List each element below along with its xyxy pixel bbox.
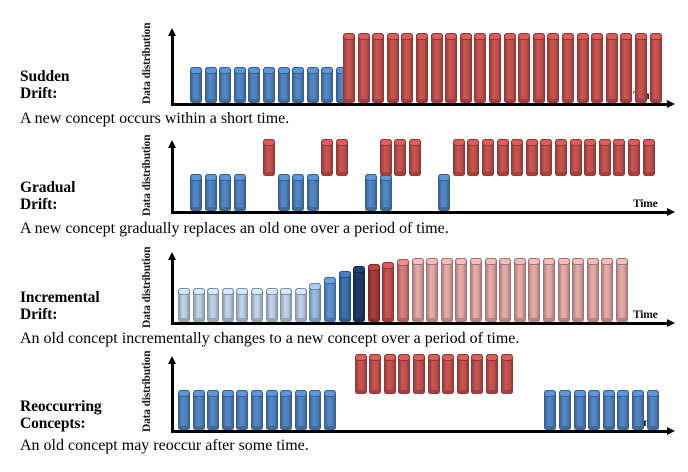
- chart-incremental-drift: Data distribution Time: [0, 242, 688, 354]
- bar-top-ellipse: [599, 139, 611, 146]
- bar-bottom-ellipse: [343, 99, 355, 103]
- bar-top-ellipse: [617, 390, 629, 397]
- y-axis: [171, 146, 174, 213]
- bar: [219, 174, 231, 211]
- bar-top-ellipse: [263, 139, 275, 146]
- bar-top-ellipse: [613, 139, 625, 146]
- bar: [528, 258, 540, 322]
- bar: [266, 288, 278, 322]
- bar-top-ellipse: [438, 174, 450, 181]
- bar-bottom-ellipse: [606, 99, 618, 103]
- bar-bottom-ellipse: [467, 172, 479, 176]
- bar-bottom-ellipse: [266, 426, 278, 430]
- bar-top-ellipse: [236, 390, 248, 397]
- bar: [514, 258, 526, 322]
- bar-bottom-ellipse: [559, 426, 571, 430]
- bar-top-ellipse: [219, 67, 231, 74]
- bar-top-ellipse: [588, 390, 600, 397]
- bar: [486, 354, 498, 394]
- bar-top-ellipse: [470, 258, 482, 265]
- bar: [384, 354, 396, 394]
- bar-top-ellipse: [606, 33, 618, 40]
- bar-top-ellipse: [413, 354, 425, 361]
- bar-body: [401, 33, 413, 103]
- bar-top-ellipse: [178, 390, 190, 397]
- bar-top-ellipse: [321, 67, 333, 74]
- bar-top-ellipse: [543, 258, 555, 265]
- x-axis: [171, 322, 668, 325]
- bar-bottom-ellipse: [205, 207, 217, 211]
- bar: [562, 33, 574, 103]
- bar: [574, 390, 586, 430]
- bar: [413, 354, 425, 394]
- bar: [482, 139, 494, 176]
- bar-bottom-ellipse: [295, 318, 307, 322]
- bar: [307, 174, 319, 211]
- bar-bottom-ellipse: [387, 99, 399, 103]
- x-axis: [171, 430, 668, 433]
- bar-top-ellipse: [591, 33, 603, 40]
- bar: [248, 67, 260, 103]
- bar-body: [650, 33, 662, 103]
- bar: [222, 288, 234, 322]
- bar-body: [620, 33, 632, 103]
- bar: [428, 354, 440, 394]
- bar-body: [382, 262, 394, 322]
- bar-top-ellipse: [528, 258, 540, 265]
- bar-body: [368, 264, 380, 322]
- bar-top-ellipse: [499, 258, 511, 265]
- bar-bottom-ellipse: [321, 172, 333, 176]
- bar-bottom-ellipse: [555, 172, 567, 176]
- bar: [504, 33, 516, 103]
- bar-top-ellipse: [441, 258, 453, 265]
- bar-top-ellipse: [577, 33, 589, 40]
- x-axis-label: Time: [633, 198, 658, 210]
- bar-top-ellipse: [280, 288, 292, 295]
- bar: [263, 67, 275, 103]
- bar: [455, 258, 467, 322]
- bar: [467, 139, 479, 176]
- bar-body: [504, 33, 516, 103]
- bar-bottom-ellipse: [518, 99, 530, 103]
- bar-top-ellipse: [336, 139, 348, 146]
- bar-top-ellipse: [295, 288, 307, 295]
- bar-body: [412, 258, 424, 322]
- bar-body: [591, 33, 603, 103]
- bar-top-ellipse: [207, 288, 219, 295]
- bar: [501, 354, 513, 394]
- bar-top-ellipse: [572, 258, 584, 265]
- bar-bottom-ellipse: [617, 426, 629, 430]
- bar-body: [514, 258, 526, 322]
- bar-top-ellipse: [251, 288, 263, 295]
- bar: [643, 139, 655, 176]
- bar-bottom-ellipse: [438, 207, 450, 211]
- bar-top-ellipse: [620, 33, 632, 40]
- bar-top-ellipse: [372, 33, 384, 40]
- bar-top-ellipse: [234, 174, 246, 181]
- bar: [266, 390, 278, 430]
- bar: [489, 33, 501, 103]
- bar-body: [474, 33, 486, 103]
- bar-top-ellipse: [190, 174, 202, 181]
- bar-top-ellipse: [471, 354, 483, 361]
- bar-top-ellipse: [497, 139, 509, 146]
- bar: [207, 390, 219, 430]
- bar-top-ellipse: [205, 67, 217, 74]
- bar: [628, 139, 640, 176]
- bar-top-ellipse: [193, 390, 205, 397]
- bar: [591, 33, 603, 103]
- bar: [369, 354, 381, 394]
- bar-top-ellipse: [453, 139, 465, 146]
- bar-top-ellipse: [309, 390, 321, 397]
- bar-bottom-ellipse: [577, 99, 589, 103]
- bar-body: [635, 33, 647, 103]
- bar: [295, 390, 307, 430]
- bar: [540, 139, 552, 176]
- bar-top-ellipse: [409, 139, 421, 146]
- bar: [278, 174, 290, 211]
- bar-top-ellipse: [643, 139, 655, 146]
- y-axis-label: Data distribution: [141, 256, 153, 328]
- bar-top-ellipse: [355, 354, 367, 361]
- bar-top-ellipse: [353, 266, 365, 273]
- bar-top-ellipse: [489, 33, 501, 40]
- bar: [603, 390, 615, 430]
- bar-top-ellipse: [321, 139, 333, 146]
- bar: [321, 67, 333, 103]
- bar-top-ellipse: [559, 390, 571, 397]
- bar-bottom-ellipse: [193, 426, 205, 430]
- bar-top-ellipse: [292, 174, 304, 181]
- bar-bottom-ellipse: [540, 172, 552, 176]
- bar: [219, 67, 231, 103]
- bar: [412, 258, 424, 322]
- bar: [544, 390, 556, 430]
- bar-bottom-ellipse: [372, 99, 384, 103]
- bar-bottom-ellipse: [489, 99, 501, 103]
- bar: [601, 258, 613, 322]
- bar-bottom-ellipse: [324, 318, 336, 322]
- bar: [441, 258, 453, 322]
- bar-bottom-ellipse: [543, 318, 555, 322]
- bar-top-ellipse: [501, 354, 513, 361]
- bar-top-ellipse: [428, 354, 440, 361]
- bar-body: [445, 33, 457, 103]
- bar-top-ellipse: [540, 139, 552, 146]
- bar-bottom-ellipse: [599, 172, 611, 176]
- bar: [372, 33, 384, 103]
- bar-bottom-ellipse: [251, 318, 263, 322]
- bar-bottom-ellipse: [547, 99, 559, 103]
- bar-bottom-ellipse: [471, 390, 483, 394]
- bar-bottom-ellipse: [278, 207, 290, 211]
- bar-bottom-ellipse: [482, 172, 494, 176]
- bar-top-ellipse: [628, 139, 640, 146]
- bar-top-ellipse: [555, 139, 567, 146]
- bar-top-ellipse: [307, 174, 319, 181]
- bar-bottom-ellipse: [365, 207, 377, 211]
- y-axis: [171, 258, 174, 324]
- bar-bottom-ellipse: [486, 390, 498, 394]
- bar-top-ellipse: [207, 390, 219, 397]
- bar-bottom-ellipse: [336, 172, 348, 176]
- bar-bottom-ellipse: [368, 318, 380, 322]
- bar-body: [339, 271, 351, 322]
- bar: [577, 33, 589, 103]
- bar-bottom-ellipse: [457, 390, 469, 394]
- bar-bottom-ellipse: [178, 318, 190, 322]
- bar-top-ellipse: [558, 258, 570, 265]
- bar: [635, 33, 647, 103]
- bar-body: [577, 33, 589, 103]
- panel-incremental-drift: Incremental Drift: An old concept increm…: [0, 242, 688, 354]
- bar: [401, 33, 413, 103]
- bar-bottom-ellipse: [445, 99, 457, 103]
- bar: [292, 67, 304, 103]
- bar-body: [601, 258, 613, 322]
- bar-top-ellipse: [482, 139, 494, 146]
- bar-top-ellipse: [368, 264, 380, 271]
- bar: [309, 283, 321, 322]
- bar-bottom-ellipse: [650, 99, 662, 103]
- x-axis: [171, 211, 668, 214]
- bar-body: [485, 258, 497, 322]
- panel-sudden-drift: Sudden Drift: A new concept occurs withi…: [0, 0, 688, 132]
- bar-top-ellipse: [455, 258, 467, 265]
- bar: [442, 354, 454, 394]
- bar: [178, 288, 190, 322]
- bar: [339, 271, 351, 322]
- bar-bottom-ellipse: [380, 207, 392, 211]
- bar: [616, 258, 628, 322]
- bar-top-ellipse: [382, 262, 394, 269]
- bar: [207, 288, 219, 322]
- bar-bottom-ellipse: [628, 172, 640, 176]
- bar-bottom-ellipse: [620, 99, 632, 103]
- bar: [380, 139, 392, 176]
- bar-top-ellipse: [309, 283, 321, 290]
- bar-top-ellipse: [278, 67, 290, 74]
- bar-bottom-ellipse: [591, 99, 603, 103]
- bar-top-ellipse: [398, 354, 410, 361]
- bar-top-ellipse: [222, 390, 234, 397]
- bar-bottom-ellipse: [528, 318, 540, 322]
- bar-top-ellipse: [514, 258, 526, 265]
- bar: [431, 33, 443, 103]
- bar: [251, 288, 263, 322]
- bar-top-ellipse: [474, 33, 486, 40]
- bar: [205, 67, 217, 103]
- bar-top-ellipse: [650, 33, 662, 40]
- bar-top-ellipse: [412, 258, 424, 265]
- bar-top-ellipse: [278, 174, 290, 181]
- bar: [278, 67, 290, 103]
- bar-bottom-ellipse: [470, 318, 482, 322]
- bar: [343, 33, 355, 103]
- bar: [599, 139, 611, 176]
- bar: [205, 174, 217, 211]
- y-axis-label: Data distribution: [141, 360, 153, 432]
- bar-body: [426, 258, 438, 322]
- panel-reoccurring-concepts: Reoccurring Concepts: An old concept may…: [0, 354, 688, 472]
- bar-bottom-ellipse: [307, 207, 319, 211]
- bar-bottom-ellipse: [292, 99, 304, 103]
- bar-bottom-ellipse: [511, 172, 523, 176]
- bar-top-ellipse: [380, 139, 392, 146]
- bar-top-ellipse: [234, 67, 246, 74]
- bar-bottom-ellipse: [278, 99, 290, 103]
- bar-top-ellipse: [266, 390, 278, 397]
- bar-bottom-ellipse: [533, 99, 545, 103]
- bar: [280, 288, 292, 322]
- bar: [543, 258, 555, 322]
- bar-top-ellipse: [236, 288, 248, 295]
- bar-top-ellipse: [263, 67, 275, 74]
- bar: [587, 258, 599, 322]
- bar-top-ellipse: [190, 67, 202, 74]
- bar-bottom-ellipse: [416, 99, 428, 103]
- bar-body: [572, 258, 584, 322]
- bar-bottom-ellipse: [190, 99, 202, 103]
- bar-bottom-ellipse: [353, 318, 365, 322]
- bar: [178, 390, 190, 430]
- bar-bottom-ellipse: [307, 99, 319, 103]
- bar-top-ellipse: [205, 174, 217, 181]
- bar-bottom-ellipse: [455, 318, 467, 322]
- bar: [398, 354, 410, 394]
- bar-top-ellipse: [397, 259, 409, 266]
- y-axis: [171, 362, 174, 432]
- bar-body: [533, 33, 545, 103]
- chart-reoccurring-concepts: Data distribution Time: [0, 354, 688, 472]
- bar: [324, 277, 336, 322]
- bar-body: [470, 258, 482, 322]
- bar: [222, 390, 234, 430]
- bar-bottom-ellipse: [236, 426, 248, 430]
- bar-body: [431, 33, 443, 103]
- bar-top-ellipse: [251, 390, 263, 397]
- bar: [445, 33, 457, 103]
- bar-bottom-ellipse: [401, 99, 413, 103]
- bar-body: [387, 33, 399, 103]
- bar: [613, 139, 625, 176]
- bar-bottom-ellipse: [441, 318, 453, 322]
- bar-body: [353, 266, 365, 322]
- bar: [358, 33, 370, 103]
- bar-bottom-ellipse: [587, 318, 599, 322]
- bar-bottom-ellipse: [584, 172, 596, 176]
- bar: [470, 258, 482, 322]
- bar-body: [562, 33, 574, 103]
- bar-bottom-ellipse: [193, 318, 205, 322]
- bar-bottom-ellipse: [413, 390, 425, 394]
- bar-body: [587, 258, 599, 322]
- bar-top-ellipse: [358, 33, 370, 40]
- bar-bottom-ellipse: [266, 318, 278, 322]
- bar-top-ellipse: [222, 288, 234, 295]
- bar-bottom-ellipse: [635, 99, 647, 103]
- bar-top-ellipse: [384, 354, 396, 361]
- bar-top-ellipse: [603, 390, 615, 397]
- bar-bottom-ellipse: [280, 318, 292, 322]
- bar: [321, 139, 333, 176]
- bar-bottom-ellipse: [248, 99, 260, 103]
- bar: [409, 139, 421, 176]
- bar: [526, 139, 538, 176]
- bar: [632, 390, 644, 430]
- bar-top-ellipse: [647, 390, 659, 397]
- bar: [251, 390, 263, 430]
- bar-bottom-ellipse: [588, 426, 600, 430]
- bar-bottom-ellipse: [412, 318, 424, 322]
- bar: [497, 139, 509, 176]
- bar-bottom-ellipse: [207, 318, 219, 322]
- bar: [453, 139, 465, 176]
- bar: [292, 174, 304, 211]
- bar-bottom-ellipse: [309, 426, 321, 430]
- bar-top-ellipse: [343, 33, 355, 40]
- bar: [518, 33, 530, 103]
- bar: [394, 139, 406, 176]
- bar-top-ellipse: [307, 67, 319, 74]
- bar: [620, 33, 632, 103]
- bar-top-ellipse: [526, 139, 538, 146]
- bar-bottom-ellipse: [499, 318, 511, 322]
- bar-bottom-ellipse: [339, 318, 351, 322]
- bar-bottom-ellipse: [601, 318, 613, 322]
- bar-bottom-ellipse: [504, 99, 516, 103]
- bar-body: [558, 258, 570, 322]
- bar-bottom-ellipse: [234, 207, 246, 211]
- bar-top-ellipse: [426, 258, 438, 265]
- bar-bottom-ellipse: [514, 318, 526, 322]
- bar-bottom-ellipse: [263, 99, 275, 103]
- bar: [474, 33, 486, 103]
- bar-bottom-ellipse: [453, 172, 465, 176]
- bar-bottom-ellipse: [485, 318, 497, 322]
- bar-bottom-ellipse: [526, 172, 538, 176]
- bar: [324, 390, 336, 430]
- bar: [295, 288, 307, 322]
- bar-top-ellipse: [616, 258, 628, 265]
- bar: [397, 259, 409, 322]
- bar-bottom-ellipse: [398, 390, 410, 394]
- bar-bottom-ellipse: [558, 318, 570, 322]
- bar-top-ellipse: [295, 390, 307, 397]
- bar-bottom-ellipse: [219, 207, 231, 211]
- bar-top-ellipse: [632, 390, 644, 397]
- x-axis: [171, 103, 668, 106]
- bar-body: [547, 33, 559, 103]
- bar-top-ellipse: [574, 390, 586, 397]
- bar: [190, 174, 202, 211]
- bar-bottom-ellipse: [309, 318, 321, 322]
- bar: [460, 33, 472, 103]
- bar-bottom-ellipse: [397, 318, 409, 322]
- y-axis-label: Data distribution: [141, 144, 153, 216]
- bar-bottom-ellipse: [426, 318, 438, 322]
- bar-top-ellipse: [339, 271, 351, 278]
- bar: [559, 390, 571, 430]
- bar-bottom-ellipse: [380, 172, 392, 176]
- bar-top-ellipse: [365, 174, 377, 181]
- bar: [499, 258, 511, 322]
- bar-bottom-ellipse: [358, 99, 370, 103]
- bar-bottom-ellipse: [251, 426, 263, 430]
